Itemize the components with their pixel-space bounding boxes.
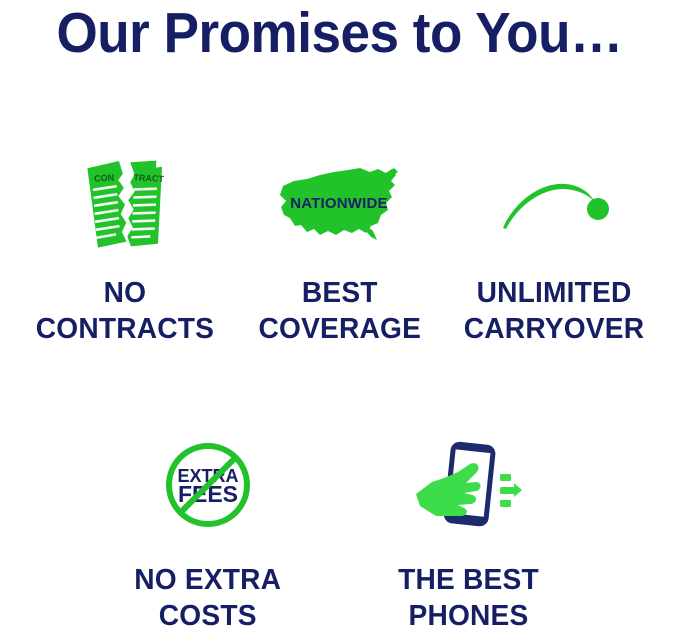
promises-row-bottom: EXTRA FEES NO EXTRA COSTS [78, 430, 598, 634]
rollover-arc-ball [587, 198, 609, 220]
torn-contract-text-left: CON [94, 172, 115, 183]
promise-item-unlimited-carryover: UNLIMITED CARRYOVER [447, 150, 661, 347]
motion-lines [500, 474, 522, 507]
promise-label-the-best-phones: THE BEST PHONES [398, 562, 539, 634]
hand-phone-icon-container [414, 430, 522, 540]
page-title: Our Promises to You… [24, 2, 655, 64]
promise-item-no-extra-costs: EXTRA FEES NO EXTRA COSTS [78, 430, 338, 634]
promise-item-best-coverage: NATIONWIDE BEST COVERAGE [232, 150, 446, 347]
promise-label-no-extra-costs: NO EXTRA COSTS [135, 562, 282, 634]
promise-label-no-contracts: NO CONTRACTS [36, 275, 214, 347]
rollover-arc-icon-container [499, 150, 609, 260]
hand-phone-icon [414, 438, 522, 532]
torn-contract-icon-container: CON TRACT [84, 150, 166, 260]
torn-contract-icon: CON TRACT [84, 159, 166, 251]
promise-item-no-contracts: CON TRACT [18, 150, 232, 347]
no-extra-fees-icon: EXTRA FEES [160, 437, 256, 533]
rollover-arc-icon [499, 174, 609, 236]
usa-map-icon: NATIONWIDE [274, 163, 404, 247]
usa-map-label: NATIONWIDE [291, 195, 389, 212]
promise-label-best-coverage: BEST COVERAGE [258, 275, 421, 347]
usa-map-icon-container: NATIONWIDE [274, 150, 404, 260]
promise-item-the-best-phones: THE BEST PHONES [338, 430, 598, 634]
torn-contract-text-right: TRACT [133, 172, 164, 184]
promise-label-unlimited-carryover: UNLIMITED CARRYOVER [464, 275, 644, 347]
no-extra-fees-icon-container: EXTRA FEES [160, 430, 256, 540]
promises-row-top: CON TRACT [0, 150, 679, 347]
